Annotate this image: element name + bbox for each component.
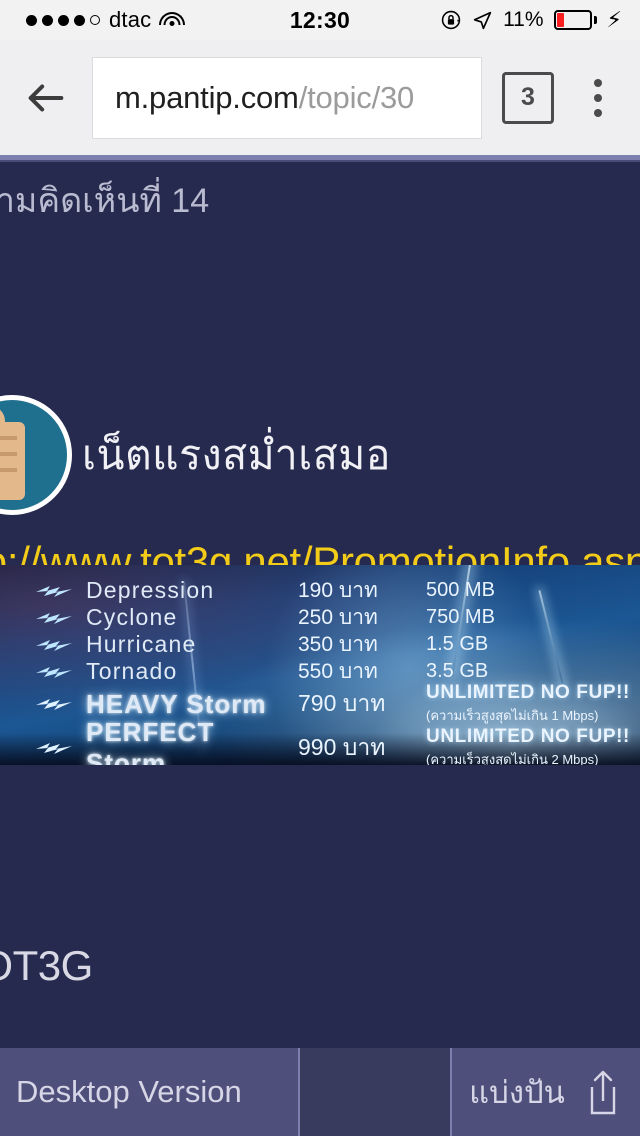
plan-name: HEAVY Storm (86, 689, 298, 720)
plan-list: Depression 190 บาท 500 MB Cyclone 250 บา… (0, 565, 640, 765)
plan-name: PERFECT Storm (86, 717, 298, 765)
location-arrow-icon (472, 10, 493, 31)
plan-data-group: UNLIMITED NO FUP!! (ความเร็วสูงสุดไม่เกิ… (426, 682, 630, 726)
url-bar[interactable]: m.pantip.com/topic/30 (92, 57, 482, 139)
battery-icon (554, 10, 598, 31)
plan-data: 500 MB (426, 579, 495, 602)
bottom-action-bar: Desktop Version แบ่งปัน (0, 1048, 640, 1136)
promotion-banner-image[interactable]: Depression 190 บาท 500 MB Cyclone 250 บา… (0, 565, 640, 765)
plan-data: UNLIMITED NO FUP!! (426, 682, 630, 704)
plan-data-note: (ความเร็วสูงสุดไม่เกิน 1 Mbps) (426, 705, 630, 726)
overflow-menu-icon[interactable] (574, 40, 622, 155)
plan-name: Tornado (86, 658, 298, 685)
url-host: m.pantip.com (115, 80, 299, 115)
back-arrow-icon (23, 75, 69, 121)
lightning-bolt-icon (0, 664, 86, 680)
share-label: แบ่งปัน (469, 1067, 565, 1117)
phone-screen: dtac 12:30 11% (0, 0, 640, 1136)
plan-data-group: UNLIMITED NO FUP!! (ความเร็วสูงสุดไม่เกิ… (426, 726, 630, 765)
webpage-content: ความคิดเห็นที่ 14 เน็ตแรงสม่ำเสมอ http:/… (0, 155, 640, 1048)
comment-heading: ความคิดเห็นที่ 14 (0, 173, 209, 227)
url-path: /topic/30 (299, 80, 414, 115)
desktop-version-button[interactable]: Desktop Version (0, 1048, 300, 1136)
lightning-bolt-icon (0, 583, 86, 599)
plan-name: Cyclone (86, 604, 298, 631)
browser-toolbar: m.pantip.com/topic/30 3 (0, 40, 640, 155)
plan-row: HEAVY Storm 790 บาท UNLIMITED NO FUP!! (… (0, 687, 640, 721)
thumbs-up-line: เน็ตแรงสม่ำเสมอ (0, 395, 391, 515)
plan-data: 1.5 GB (426, 633, 488, 656)
share-upload-icon (583, 1069, 623, 1115)
plan-price: 990 บาท (298, 730, 426, 765)
rotation-lock-icon (440, 9, 462, 31)
banner-caption: TOT3G (0, 942, 93, 990)
tab-count-button[interactable]: 3 (502, 72, 554, 124)
plan-row: Cyclone 250 บาท 750 MB (0, 604, 640, 631)
plan-row: Depression 190 บาท 500 MB (0, 577, 640, 604)
plan-data: 3.5 GB (426, 660, 488, 683)
lightning-bolt-icon (0, 740, 86, 756)
plan-row: Tornado 550 บาท 3.5 GB (0, 658, 640, 685)
plan-name: Hurricane (86, 631, 298, 658)
plan-name: Depression (86, 577, 298, 604)
plan-data: UNLIMITED NO FUP!! (426, 726, 630, 748)
back-button[interactable] (0, 40, 92, 155)
battery-percent-label: 11% (503, 8, 543, 32)
lightning-bolt-icon (0, 696, 86, 712)
status-bar-right: 11% ⚡ (440, 0, 622, 40)
charging-bolt-icon: ⚡ (607, 9, 622, 31)
plan-data: 750 MB (426, 606, 495, 629)
plan-row: Hurricane 350 บาท 1.5 GB (0, 631, 640, 658)
content-top-rule-shadow (0, 160, 640, 162)
bottom-bar-spacer (300, 1048, 452, 1136)
thumbs-up-label: เน็ตแรงสม่ำเสมอ (82, 423, 391, 488)
plan-data-note: (ความเร็วสูงสุดไม่เกิน 2 Mbps) (426, 749, 630, 765)
plan-price: 550 บาท (298, 655, 426, 688)
lightning-bolt-icon (0, 610, 86, 626)
share-button[interactable]: แบ่งปัน (452, 1048, 640, 1136)
ios-status-bar: dtac 12:30 11% (0, 0, 640, 40)
thumbs-up-icon (0, 395, 72, 515)
plan-price: 790 บาท (298, 686, 426, 722)
url-text: m.pantip.com/topic/30 (93, 80, 414, 116)
lightning-bolt-icon (0, 637, 86, 653)
plan-row: PERFECT Storm 990 บาท UNLIMITED NO FUP!!… (0, 731, 640, 765)
